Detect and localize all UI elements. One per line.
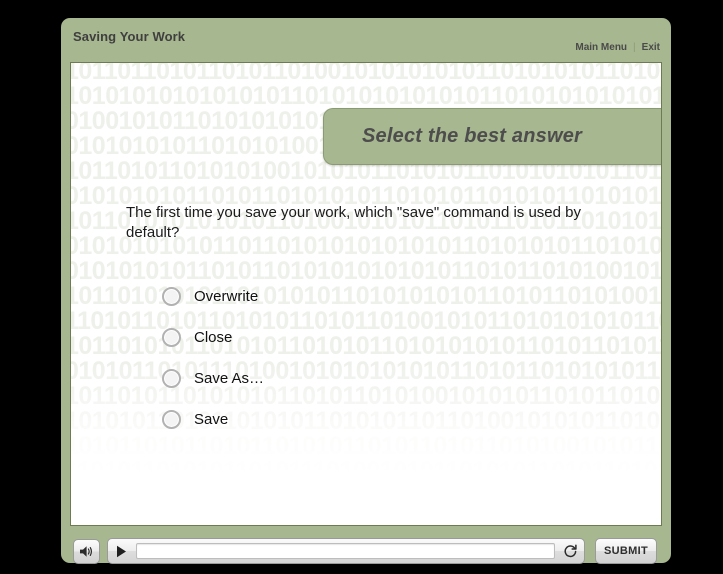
radio-button-icon[interactable] bbox=[162, 410, 181, 429]
volume-button[interactable] bbox=[73, 539, 100, 564]
answer-choice-label: Save As… bbox=[194, 370, 264, 387]
main-menu-link[interactable]: Main Menu bbox=[575, 42, 627, 53]
instruction-text: Select the best answer bbox=[362, 125, 582, 148]
radio-button-icon[interactable] bbox=[162, 328, 181, 347]
answer-choice-list: Overwrite Close Save As… Save bbox=[162, 276, 582, 440]
player-control-bar: SUBMIT bbox=[70, 532, 662, 570]
slide-canvas: 1011011010110101101001010101010110101010… bbox=[70, 62, 662, 526]
answer-choice-save[interactable]: Save bbox=[162, 399, 582, 440]
exit-link[interactable]: Exit bbox=[642, 42, 660, 53]
submit-button[interactable]: SUBMIT bbox=[595, 538, 657, 564]
screen: Saving Your Work Main Menu | Exit 101101… bbox=[0, 0, 723, 574]
playback-progress-bar[interactable] bbox=[136, 543, 555, 559]
page-title: Saving Your Work bbox=[73, 29, 185, 44]
playback-controls bbox=[107, 538, 585, 564]
speaker-icon bbox=[79, 545, 94, 558]
answer-choice-close[interactable]: Close bbox=[162, 317, 582, 358]
replay-button[interactable] bbox=[562, 543, 579, 560]
course-player-frame: Saving Your Work Main Menu | Exit 101101… bbox=[61, 18, 671, 563]
answer-choice-overwrite[interactable]: Overwrite bbox=[162, 276, 582, 317]
answer-choice-label: Overwrite bbox=[194, 288, 258, 305]
radio-button-icon[interactable] bbox=[162, 369, 181, 388]
play-button[interactable] bbox=[113, 542, 129, 560]
nav-separator: | bbox=[633, 42, 636, 53]
radio-button-icon[interactable] bbox=[162, 287, 181, 306]
header-nav: Main Menu | Exit bbox=[575, 42, 660, 53]
replay-icon bbox=[563, 544, 578, 559]
question-text: The first time you save your work, which… bbox=[126, 203, 616, 243]
answer-choice-label: Save bbox=[194, 411, 228, 428]
answer-choice-save-as[interactable]: Save As… bbox=[162, 358, 582, 399]
answer-choice-label: Close bbox=[194, 329, 232, 346]
instruction-banner: Select the best answer bbox=[323, 108, 662, 165]
play-icon bbox=[116, 545, 127, 558]
title-bar: Saving Your Work Main Menu | Exit bbox=[61, 18, 671, 61]
